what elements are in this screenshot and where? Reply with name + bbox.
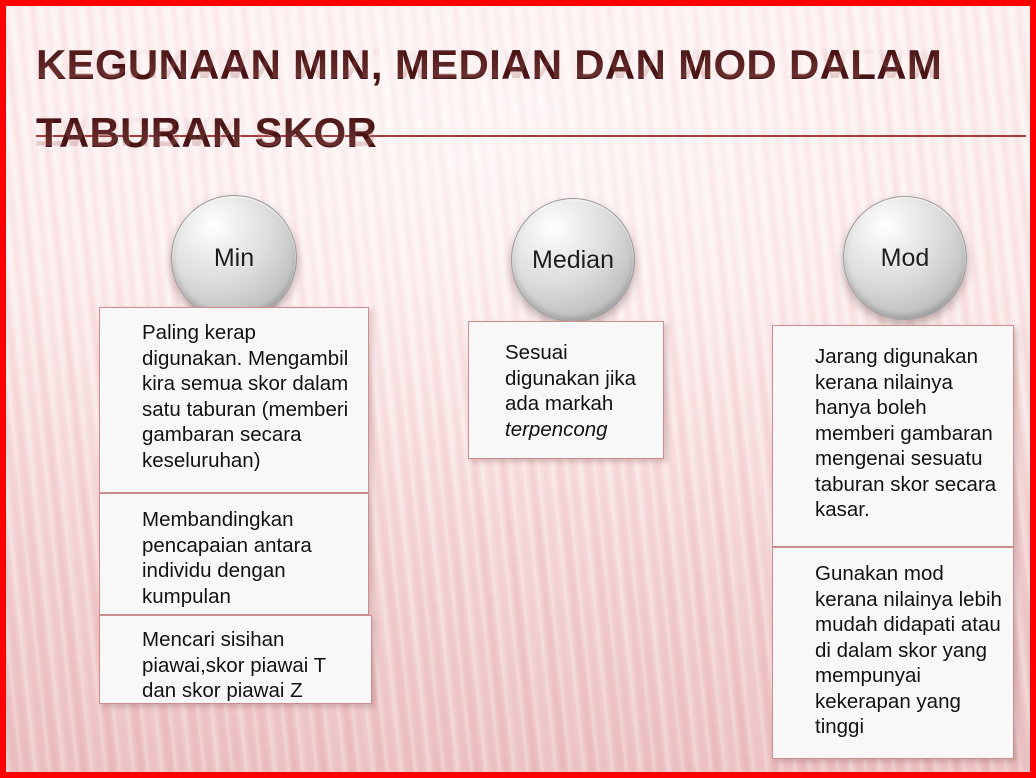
textbox-median-1-italic: terpencong xyxy=(505,418,608,441)
circle-label-min-text: Min xyxy=(214,244,254,273)
circle-label-median-text: Median xyxy=(532,246,614,275)
textbox-mod-1[interactable]: Jarang digunakan kerana nilainya hanya b… xyxy=(772,325,1014,547)
textbox-median-1-plain: Sesuai digunakan jika ada markah xyxy=(505,341,636,415)
circle-label-median[interactable]: Median xyxy=(511,198,635,322)
textbox-mod-1-text: Jarang digunakan kerana nilainya hanya b… xyxy=(815,344,1005,523)
title-line-2-text: TABURAN SKOR xyxy=(36,109,377,156)
circle-label-mod[interactable]: Mod xyxy=(843,196,967,320)
title-line-2: TABURAN SKOR TABURAN SKOR xyxy=(36,110,996,156)
page-title: KEGUNAAN MIN, MEDIAN DAN MOD DALAM KEGUN… xyxy=(36,42,996,156)
textbox-median-1-text: Sesuai digunakan jika ada markah terpenc… xyxy=(505,340,655,442)
circle-label-mod-text: Mod xyxy=(881,244,930,273)
textbox-min-3-text: Mencari sisihan piawai,skor piawai T dan… xyxy=(142,627,363,704)
title-line-1-text: KEGUNAAN MIN, MEDIAN DAN MOD DALAM xyxy=(36,41,942,88)
textbox-min-2-text: Membandingkan pencapaian antara individu… xyxy=(142,507,356,609)
textbox-min-1[interactable]: Paling kerap digunakan. Mengambil kira s… xyxy=(99,307,369,493)
textbox-mod-2-text: Gunakan mod kerana nilainya lebih mudah … xyxy=(815,561,1005,740)
slide-canvas: KEGUNAAN MIN, MEDIAN DAN MOD DALAM KEGUN… xyxy=(6,6,1030,772)
title-line-1: KEGUNAAN MIN, MEDIAN DAN MOD DALAM KEGUN… xyxy=(36,42,996,88)
textbox-min-1-text: Paling kerap digunakan. Mengambil kira s… xyxy=(142,320,356,473)
textbox-min-2[interactable]: Membandingkan pencapaian antara individu… xyxy=(99,493,369,615)
textbox-median-1[interactable]: Sesuai digunakan jika ada markah terpenc… xyxy=(468,321,664,459)
circle-label-min[interactable]: Min xyxy=(171,195,297,321)
textbox-mod-2[interactable]: Gunakan mod kerana nilainya lebih mudah … xyxy=(772,547,1014,759)
textbox-min-3[interactable]: Mencari sisihan piawai,skor piawai T dan… xyxy=(99,615,372,704)
